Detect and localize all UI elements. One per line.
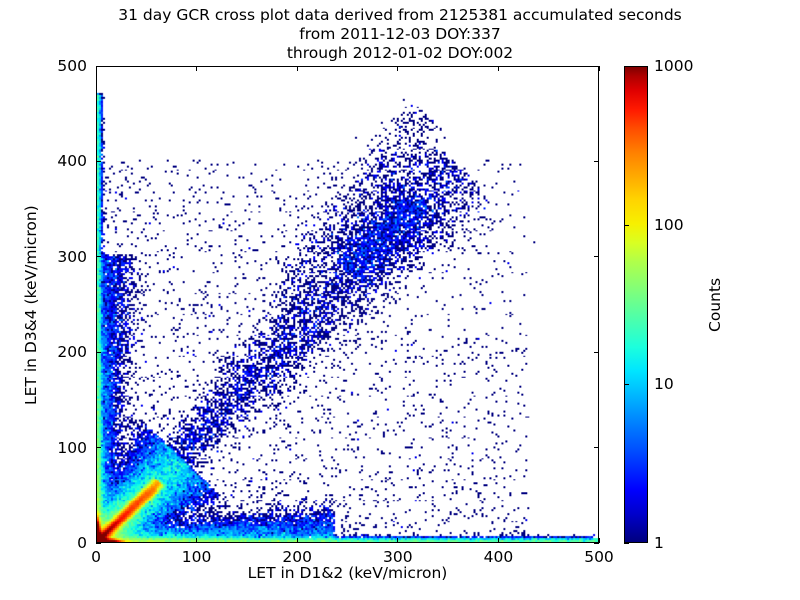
title-line-2: from 2011-12-03 DOY:337 bbox=[0, 25, 800, 44]
y-tick-label: 300 bbox=[0, 248, 87, 266]
colorbar-tick-mark bbox=[624, 384, 629, 385]
y-tick-mark bbox=[96, 543, 101, 544]
y-tick-mark-right bbox=[594, 256, 599, 257]
y-tick-mark bbox=[96, 447, 101, 448]
x-tick-mark bbox=[498, 538, 499, 543]
x-tick-mark-top bbox=[297, 66, 298, 71]
colorbar-tick-mark bbox=[624, 66, 629, 67]
colorbar-tick-label: 10 bbox=[654, 375, 674, 393]
page-title: 31 day GCR cross plot data derived from … bbox=[0, 6, 800, 63]
y-tick-mark-right bbox=[594, 447, 599, 448]
y-axis-label: LET in D3&4 (keV/micron) bbox=[22, 205, 40, 405]
x-tick-mark-top bbox=[599, 66, 600, 71]
y-tick-label: 0 bbox=[0, 534, 87, 552]
x-tick-mark bbox=[297, 538, 298, 543]
plot-area bbox=[96, 66, 599, 543]
colorbar-gradient bbox=[624, 66, 648, 543]
x-tick-mark-top bbox=[96, 66, 97, 71]
x-tick-mark bbox=[196, 538, 197, 543]
colorbar-tick-mark bbox=[624, 543, 629, 544]
y-tick-label: 400 bbox=[0, 152, 87, 170]
scatter-heatmap bbox=[97, 67, 598, 542]
y-tick-label: 500 bbox=[0, 57, 87, 75]
x-axis-label: LET in D1&2 (keV/micron) bbox=[96, 564, 599, 582]
colorbar: 1101001000 bbox=[624, 66, 648, 543]
y-tick-mark-right bbox=[594, 543, 599, 544]
y-tick-mark-right bbox=[594, 66, 599, 67]
y-tick-mark-right bbox=[594, 161, 599, 162]
y-tick-label: 200 bbox=[0, 343, 87, 361]
colorbar-tick-label: 1000 bbox=[654, 57, 693, 75]
figure-canvas: 31 day GCR cross plot data derived from … bbox=[0, 0, 800, 600]
y-tick-mark bbox=[96, 161, 101, 162]
x-tick-mark-top bbox=[196, 66, 197, 71]
colorbar-tick-label: 1 bbox=[654, 534, 664, 552]
x-tick-mark bbox=[397, 538, 398, 543]
colorbar-tick-mark bbox=[624, 225, 629, 226]
title-line-1: 31 day GCR cross plot data derived from … bbox=[0, 6, 800, 25]
colorbar-tick-label: 100 bbox=[654, 216, 684, 234]
y-tick-mark-right bbox=[594, 352, 599, 353]
y-tick-mark bbox=[96, 352, 101, 353]
x-tick-mark-top bbox=[498, 66, 499, 71]
y-tick-mark bbox=[96, 256, 101, 257]
x-tick-mark-top bbox=[397, 66, 398, 71]
colorbar-label: Counts bbox=[706, 277, 724, 331]
y-tick-mark bbox=[96, 66, 101, 67]
y-tick-label: 100 bbox=[0, 439, 87, 457]
